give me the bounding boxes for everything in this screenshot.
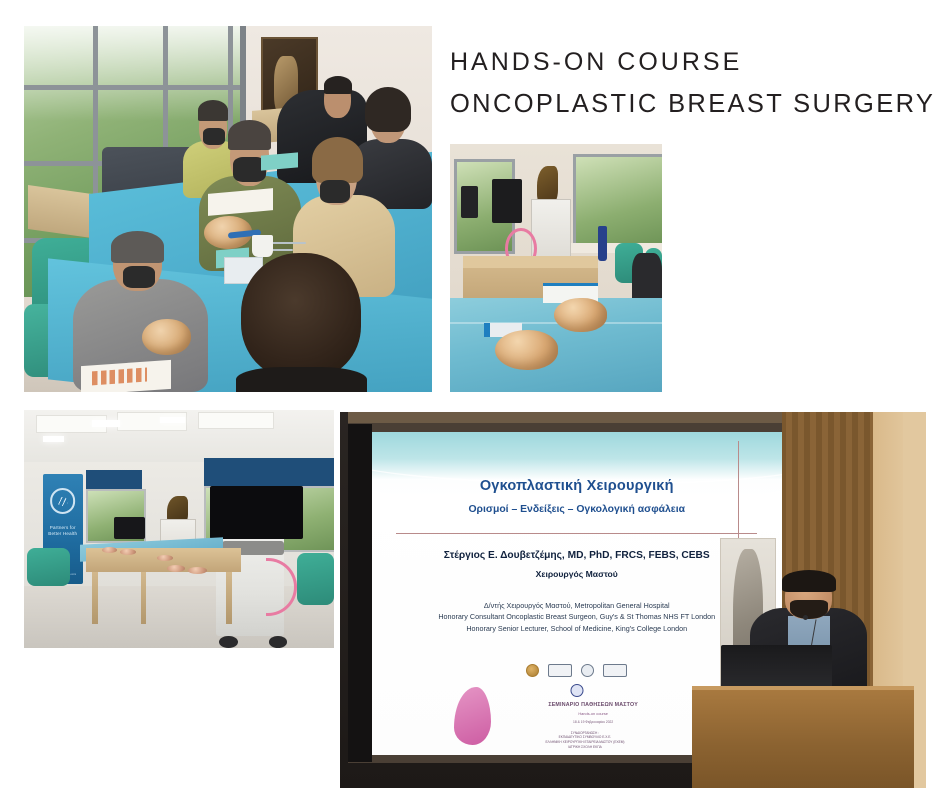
slide-title: Ογκοπλαστική Χειρουργική xyxy=(372,478,782,494)
water-bottle xyxy=(598,226,606,261)
window xyxy=(573,154,662,249)
ultrasound-display xyxy=(210,486,303,538)
tissue-specimen xyxy=(167,565,186,572)
screen-top-bar xyxy=(348,412,782,423)
ge-monogram-logo xyxy=(50,488,76,514)
workshop-participants-photo xyxy=(24,26,432,392)
wooden-podium xyxy=(692,690,915,788)
university-seal-icon xyxy=(581,664,594,677)
slide-swoosh xyxy=(372,432,782,486)
breast-model xyxy=(495,330,559,370)
ceiling-tile xyxy=(198,412,274,428)
title-line-oncoplastic-breast-surgery: ONCOPLASTIC BREAST SURGERY xyxy=(450,88,880,121)
presenter-laptop xyxy=(721,645,832,690)
title-line-hands-on-course: HANDS-ON COURSE xyxy=(450,46,880,79)
desk-top-edge xyxy=(463,256,599,268)
slide-footer-date: 18 & 19 Φεβρουαρίου 2022 xyxy=(470,720,716,724)
window-blind xyxy=(86,470,142,489)
monitor xyxy=(114,517,145,538)
speaker-hair xyxy=(782,570,836,592)
society-logo-icon xyxy=(526,664,539,677)
slide-divider xyxy=(396,533,757,534)
slide-logo-row xyxy=(413,658,741,684)
breast-models-table-photo xyxy=(450,144,662,392)
society-name-logo-icon xyxy=(548,664,572,677)
university-emblem-icon xyxy=(570,684,583,697)
ceiling-light xyxy=(43,436,65,442)
microphone-head xyxy=(803,615,808,620)
ge-banner-tagline: Partners for Better Health xyxy=(43,525,83,539)
slide-footer-title: ΣΕΜΙΝΑΡΙΟ ΠΑΘΗΣΕΩΝ ΜΑΣΤΟΥ xyxy=(470,702,716,708)
window-blind xyxy=(204,458,334,487)
machine-wheel xyxy=(219,636,238,648)
tissue-specimen xyxy=(102,547,118,553)
ge-tagline-line1: Partners for xyxy=(43,525,83,532)
lecture-presentation-photo: Ογκοπλαστική Χειρουργική Ορισμοί – Ενδεί… xyxy=(340,412,926,788)
participant-curly-hair xyxy=(236,253,367,392)
collage-canvas: HANDS-ON COURSE ONCOPLASTIC BREAST SURGE… xyxy=(0,0,940,788)
breast-model xyxy=(142,319,191,356)
ceiling-light xyxy=(160,417,185,423)
ceiling-light xyxy=(92,420,120,427)
monitor xyxy=(492,179,522,224)
table-legs xyxy=(92,572,235,624)
page-title: HANDS-ON COURSE ONCOPLASTIC BREAST SURGE… xyxy=(450,46,880,121)
printed-handout xyxy=(81,360,171,392)
green-chairs xyxy=(27,548,70,586)
medical-school-logo-icon xyxy=(603,664,627,677)
slide-footer-subtitle: Hands-on course xyxy=(470,711,716,716)
breast-model xyxy=(554,298,607,333)
organiser-3: ΙΑΤΡΙΚΗ ΣΧΟΛΗ ΕΚΠΑ xyxy=(454,745,717,750)
green-chair xyxy=(297,553,334,605)
speaker-beard xyxy=(790,600,828,619)
window-mullion xyxy=(24,85,244,90)
slide-subtitle: Ορισμοί – Ενδείξεις – Ογκολογική ασφάλει… xyxy=(372,504,782,515)
monitor xyxy=(461,186,478,218)
slide-footer-organisers: ΣΥΝΔΙΟΡΓΑΝΩΣΗ : ΕΚΠΑΙΔΕΥΤΙΚΟ ΣΥΜΒΟΥΛΙΟ Ε… xyxy=(454,731,717,750)
screen-left-shadow xyxy=(348,424,371,762)
training-room-photo: Partners for Better Health www.gehealthc… xyxy=(24,410,334,648)
ge-tagline-line2: Better Health xyxy=(43,531,83,538)
